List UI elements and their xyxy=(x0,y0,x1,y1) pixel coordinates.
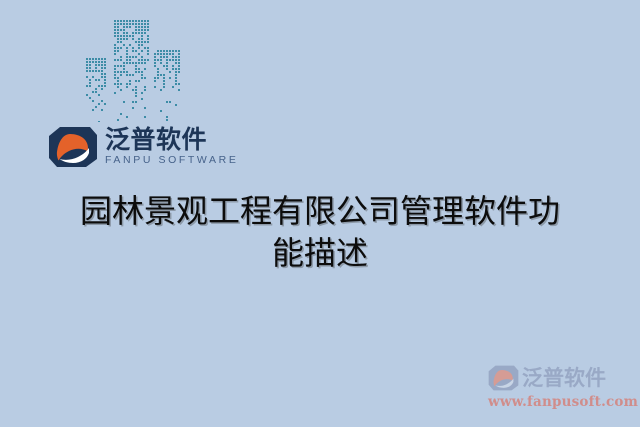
fanpu-logo: 泛普软件 FANPU SOFTWARE xyxy=(48,124,224,170)
watermark-url: www.fanpusoft.com xyxy=(488,394,634,410)
pixel-cityscape-graphic xyxy=(84,18,188,122)
slide-title: 园林景观工程有限公司管理软件功能描述 xyxy=(78,190,562,274)
slide-canvas: 泛普软件 FANPU SOFTWARE 园林景观工程有限公司管理软件功能描述 泛… xyxy=(0,0,640,427)
watermark-chinese-text: 泛普软件 xyxy=(522,368,606,389)
fanpu-watermark: 泛普软件 www.fanpusoft.com xyxy=(488,363,634,415)
fanpu-logo-english: FANPU SOFTWARE xyxy=(105,154,238,167)
title-block: 园林景观工程有限公司管理软件功能描述 xyxy=(78,190,562,274)
fanpu-logo-mark-icon xyxy=(48,126,98,168)
watermark-logo-mark-icon xyxy=(488,365,519,391)
watermark-logo-row: 泛普软件 xyxy=(488,363,634,393)
fanpu-logo-chinese: 泛普软件 xyxy=(105,127,238,153)
fanpu-logo-wordmark: 泛普软件 FANPU SOFTWARE xyxy=(105,127,238,167)
